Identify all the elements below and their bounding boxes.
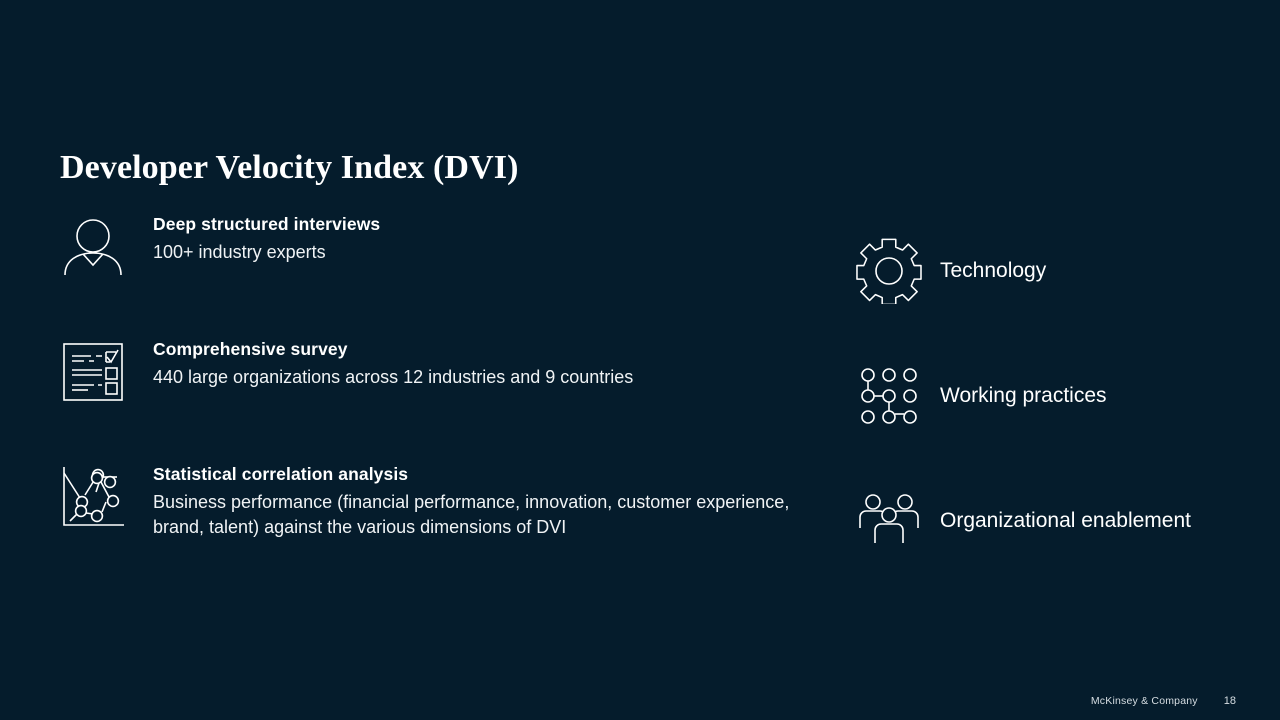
network-nodes-icon <box>856 363 922 429</box>
method-text-block: Statistical correlation analysis Busines… <box>153 458 813 540</box>
method-heading: Comprehensive survey <box>153 337 633 361</box>
person-icon <box>60 214 126 280</box>
slide-canvas: Developer Velocity Index (DVI) Deep stru… <box>0 0 1280 720</box>
footer-brand: McKinsey & Company <box>1091 695 1198 707</box>
dimension-item-organizational: Organizational enablement <box>856 458 1256 583</box>
method-item-survey: Comprehensive survey 440 large organizat… <box>56 333 836 458</box>
method-item-correlation: Statistical correlation analysis Busines… <box>56 458 836 583</box>
method-description: 440 large organizations across 12 indust… <box>153 365 633 390</box>
method-description: 100+ industry experts <box>153 240 380 265</box>
method-item-interviews: Deep structured interviews 100+ industry… <box>56 208 836 333</box>
method-heading: Statistical correlation analysis <box>153 462 813 486</box>
gear-icon <box>856 238 922 304</box>
dimensions-list: Technology <box>856 208 1256 583</box>
people-group-icon <box>856 488 922 554</box>
line-chart-icon <box>60 464 126 530</box>
method-description: Business performance (financial performa… <box>153 490 813 540</box>
method-text-block: Deep structured interviews 100+ industry… <box>153 208 380 265</box>
page-title: Developer Velocity Index (DVI) <box>60 146 519 190</box>
dimension-label: Technology <box>940 257 1046 285</box>
method-heading: Deep structured interviews <box>153 212 380 236</box>
dimension-label: Organizational enablement <box>940 507 1191 535</box>
dimension-item-technology: Technology <box>856 208 1256 333</box>
survey-checklist-icon <box>60 339 126 405</box>
footer-page-number: 18 <box>1224 695 1236 707</box>
methodology-list: Deep structured interviews 100+ industry… <box>56 208 836 583</box>
slide-footer: McKinsey & Company 18 <box>1091 695 1236 707</box>
dimension-item-working-practices: Working practices <box>856 333 1256 458</box>
method-text-block: Comprehensive survey 440 large organizat… <box>153 333 633 390</box>
dimension-label: Working practices <box>940 382 1107 410</box>
